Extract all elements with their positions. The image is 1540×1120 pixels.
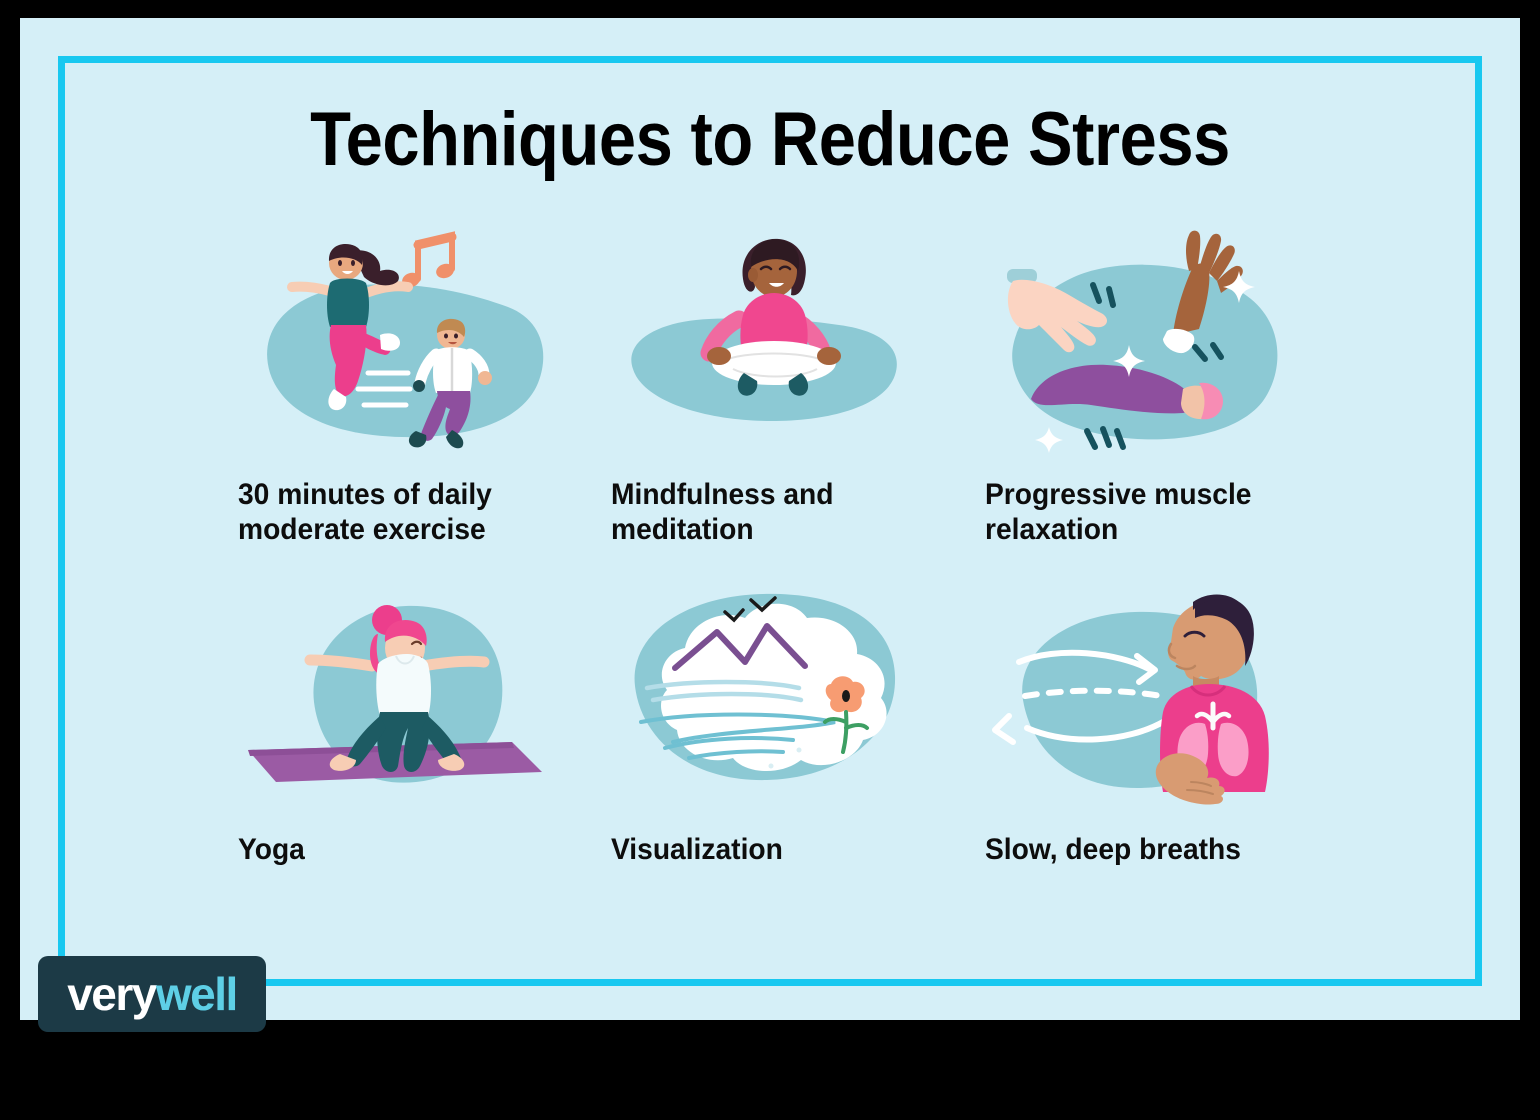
technique-card-yoga: Yoga (220, 570, 593, 867)
page-title: Techniques to Reduce Stress (110, 96, 1430, 183)
technique-card-visualization: Visualization (593, 570, 966, 867)
logo-wordmark: verywell (67, 967, 237, 1021)
technique-caption-breathing: Slow, deep breaths (985, 832, 1267, 867)
technique-card-exercise: 30 minutes of daily moderate exercise (220, 223, 593, 548)
person-meditating-illustration (603, 223, 933, 473)
people-exercising-illustration (230, 223, 560, 473)
logo-very-text: very (67, 968, 156, 1020)
technique-caption-exercise: 30 minutes of daily moderate exercise (238, 477, 520, 548)
technique-caption-muscle-relaxation: Progressive muscle relaxation (985, 477, 1267, 548)
logo-well-text: well (156, 968, 237, 1020)
technique-card-mindfulness: Mindfulness and meditation (593, 223, 966, 548)
technique-caption-mindfulness: Mindfulness and meditation (611, 477, 893, 548)
person-breathing-with-lungs-illustration (977, 570, 1307, 820)
technique-caption-visualization: Visualization (611, 832, 893, 867)
infographic-screen: Techniques to Reduce Stress (0, 0, 1540, 1120)
techniques-grid: 30 minutes of daily moderate exercise (220, 223, 1340, 867)
technique-card-breathing: Slow, deep breaths (967, 570, 1340, 867)
person-in-warrior-pose-illustration (230, 570, 560, 820)
technique-card-muscle-relaxation: Progressive muscle relaxation (967, 223, 1340, 548)
infographic-card: Techniques to Reduce Stress (20, 18, 1520, 1020)
hands-and-leg-stretching-illustration (977, 223, 1307, 473)
technique-caption-yoga: Yoga (238, 832, 520, 867)
cloud-landscape-illustration (603, 570, 933, 820)
verywell-logo[interactable]: verywell (38, 956, 266, 1032)
